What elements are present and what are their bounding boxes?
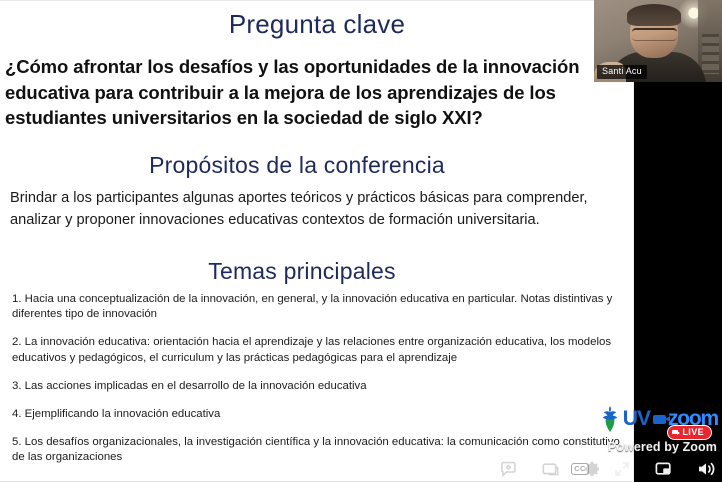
participant-name-label: Santi Acu [597, 65, 647, 79]
shared-slide-surface[interactable]: Pregunta clave ¿Cómo afrontar los desafí… [0, 0, 634, 482]
participant-video-tile[interactable]: Santi Acu [594, 0, 722, 82]
letterbox-fill-right [634, 82, 722, 482]
closed-caption-icon[interactable]: CC [570, 460, 590, 478]
powered-by-zoom-label: Powered by Zoom [608, 440, 717, 454]
slide-key-question: ¿Cómo afrontar los desafíos y las oportu… [5, 54, 624, 131]
screen-share-icon[interactable] [540, 460, 560, 478]
slide-topic-item: 3. Las acciones implicadas en el desarro… [12, 379, 620, 394]
participant-hair [627, 4, 681, 26]
cc-label: CC [571, 463, 588, 475]
slide-topic-item: 4. Ejemplificando la innovación educativ… [12, 407, 620, 422]
slide-purpose-text: Brindar a los participantes algunas apor… [10, 188, 614, 231]
slide-topic-item: 2. La innovación educativa: orientación … [12, 335, 620, 365]
slide-heading-temas-principales: Temas principales [0, 256, 604, 286]
chat-icon[interactable] [498, 460, 518, 478]
slide-topic-item: 1. Hacia una conceptualización de la inn… [12, 292, 620, 322]
video-background-shelf [702, 34, 719, 74]
picture-in-picture-icon[interactable] [654, 460, 674, 478]
player-controls-right: CC [570, 460, 716, 478]
fullscreen-icon[interactable] [612, 460, 632, 478]
slide-heading-propositos: Propósitos de la conferencia [0, 150, 594, 180]
slide-topics-list: 1. Hacia una conceptualización de la inn… [12, 292, 620, 479]
slide-title-pregunta-clave: Pregunta clave [0, 8, 634, 40]
volume-icon[interactable] [696, 460, 716, 478]
zoom-webinar-window: Pregunta clave ¿Cómo afrontar los desafí… [0, 0, 722, 482]
slide-content: Pregunta clave ¿Cómo afrontar los desafí… [0, 0, 634, 482]
participant-glasses [632, 28, 677, 41]
